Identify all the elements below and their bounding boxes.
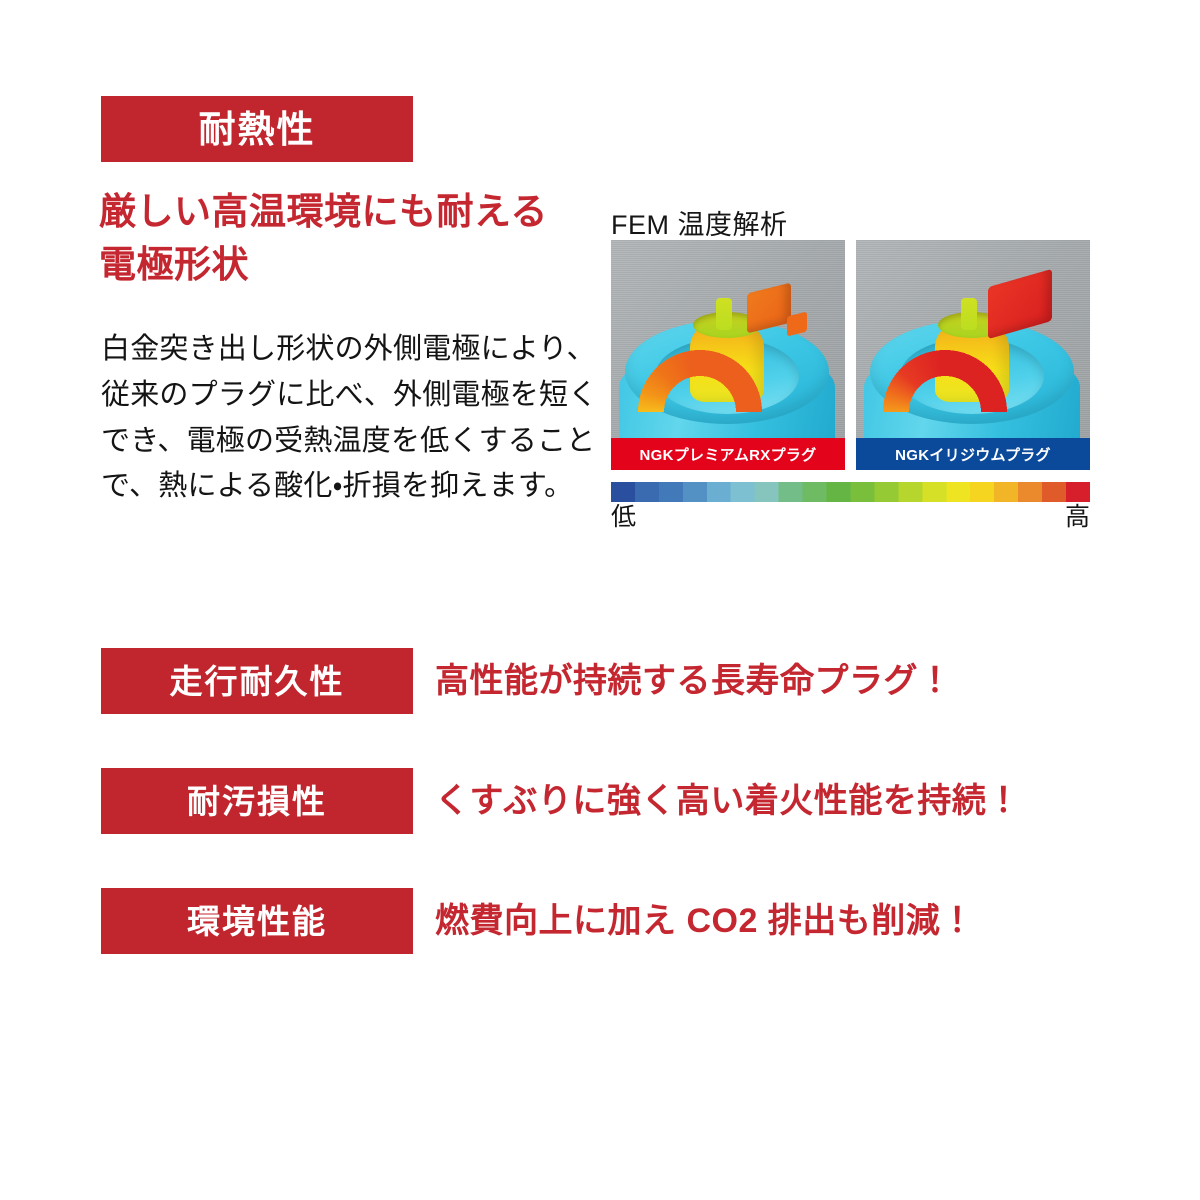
feature-description-durability: 高性能が持続する長寿命プラグ！: [435, 664, 953, 698]
feature-badge-durability: 走行耐久性: [101, 648, 413, 714]
feature-row-fouling-resistance: 耐汚損性 くすぶりに強く高い着火性能を持続！: [101, 768, 1021, 834]
fem-render-iridium: [856, 240, 1090, 470]
feature-badge-durability-label: 走行耐久性: [170, 665, 345, 698]
fem-caption-premium-rx: NGKプレミアムRXプラグ: [611, 438, 845, 470]
temperature-color-scale: 低 高: [611, 482, 1090, 532]
fem-caption-iridium: NGKイリジウムプラグ: [856, 438, 1090, 470]
feature-badge-fouling-resistance: 耐汚損性: [101, 768, 413, 834]
description-line-1: 白金突き出し形状の外側電極により、: [101, 327, 601, 373]
feature-row-environmental: 環境性能 燃費向上に加え CO2 排出も削減！: [101, 888, 1021, 954]
feature-badge-environmental: 環境性能: [101, 888, 413, 954]
headline-line-1: 厳しい高温環境にも耐える: [99, 186, 619, 239]
feature-description-environmental: 燃費向上に加え CO2 排出も削減！: [435, 904, 975, 938]
fem-panel-premium-rx: NGKプレミアムRXプラグ: [611, 240, 845, 470]
description-line-2: 従来のプラグに比べ、外側電極を短く: [101, 373, 601, 419]
electrode-tip-nub-shape: [787, 312, 807, 337]
fem-caption-premium-rx-label: NGKプレミアムRXプラグ: [639, 444, 816, 465]
temperature-gradient-bar: [611, 482, 1090, 502]
fem-render-premium-rx: [611, 240, 845, 470]
description-paragraph: 白金突き出し形状の外側電極により、 従来のプラグに比べ、外側電極を短く でき、電…: [101, 327, 601, 510]
feature-badge-fouling-resistance-label: 耐汚損性: [187, 785, 327, 818]
description-line-3: でき、電極の受熱温度を低くすること: [101, 419, 601, 465]
fem-caption-iridium-label: NGKイリジウムプラグ: [895, 444, 1051, 465]
temperature-scale-labels: 低 高: [611, 504, 1090, 532]
feature-badge-environmental-label: 環境性能: [187, 905, 327, 938]
page-title: 厳しい高温環境にも耐える 電極形状: [99, 186, 619, 291]
temperature-scale-high-label: 高: [1065, 504, 1090, 532]
electrode-heat-gradient: [637, 280, 763, 412]
ground-electrode-arm-premium-rx: [637, 280, 763, 412]
fem-analysis-title: FEM 温度解析: [611, 203, 788, 242]
feature-row-durability: 走行耐久性 高性能が持続する長寿命プラグ！: [101, 648, 1021, 714]
temperature-scale-low-label: 低: [611, 504, 636, 532]
heat-resistance-badge-label: 耐熱性: [199, 111, 316, 148]
feature-description-fouling-resistance: くすぶりに強く高い着火性能を持続！: [435, 784, 1021, 818]
ground-electrode-arm-iridium: [882, 280, 1008, 412]
description-line-4: で、熱による酸化・折損を抑えます。: [101, 464, 601, 510]
headline-line-2: 電極形状: [99, 239, 619, 292]
fem-analysis-panels: NGKプレミアムRXプラグ NGKイリジウムプラグ: [611, 240, 1090, 470]
heat-resistance-badge: 耐熱性: [101, 96, 413, 162]
fem-panel-iridium: NGKイリジウムプラグ: [856, 240, 1090, 470]
